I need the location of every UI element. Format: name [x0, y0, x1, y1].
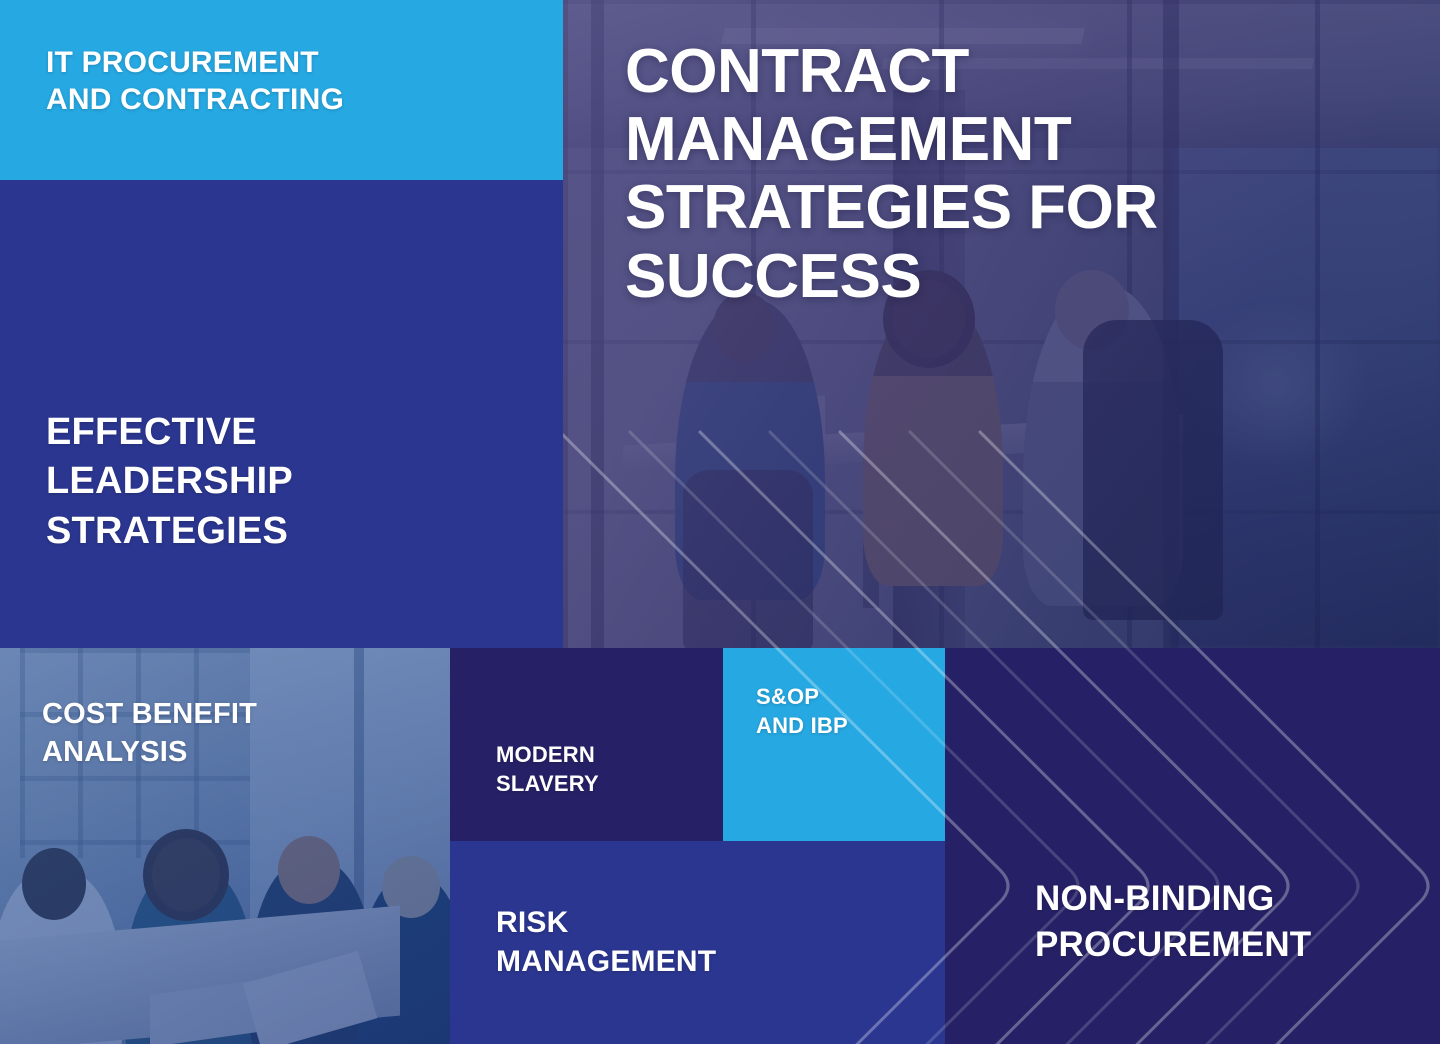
- tile-modern-slavery-label: MODERN SLAVERY: [496, 740, 599, 799]
- tile-risk-management[interactable]: RISK MANAGEMENT: [450, 841, 945, 1044]
- tile-hero-contract-management[interactable]: CONTRACT MANAGEMENT STRATEGIES FOR SUCCE…: [563, 0, 1440, 648]
- tile-cost-benefit-label: COST BENEFIT ANALYSIS: [42, 696, 257, 771]
- tile-sop-and-ibp-label: S&OP AND IBP: [756, 682, 848, 741]
- tile-cost-benefit-analysis[interactable]: COST BENEFIT ANALYSIS: [0, 648, 450, 1044]
- tile-it-procurement[interactable]: IT PROCUREMENT AND CONTRACTING: [0, 0, 563, 180]
- tile-it-procurement-label: IT PROCUREMENT AND CONTRACTING: [46, 44, 344, 118]
- tile-non-binding-procurement-label: NON-BINDING PROCUREMENT: [1035, 876, 1311, 967]
- tile-risk-management-label: RISK MANAGEMENT: [496, 903, 716, 981]
- tile-effective-leadership[interactable]: EFFECTIVE LEADERSHIP STRATEGIES: [0, 180, 563, 648]
- tile-non-binding-procurement[interactable]: NON-BINDING PROCUREMENT: [945, 648, 1440, 1044]
- poster-canvas: IT PROCUREMENT AND CONTRACTING EFFECTIVE…: [0, 0, 1440, 1044]
- tile-effective-leadership-label: EFFECTIVE LEADERSHIP STRATEGIES: [46, 408, 293, 556]
- tile-modern-slavery[interactable]: MODERN SLAVERY: [450, 648, 723, 841]
- poster-title: CONTRACT MANAGEMENT STRATEGIES FOR SUCCE…: [625, 38, 1158, 311]
- tile-sop-and-ibp[interactable]: S&OP AND IBP: [723, 648, 945, 841]
